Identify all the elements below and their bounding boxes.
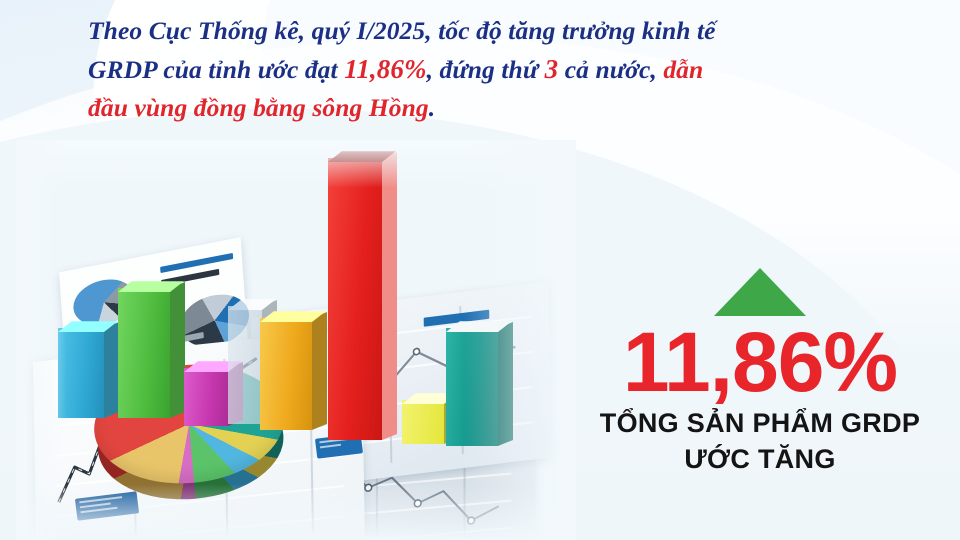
bar-3-magenta xyxy=(184,368,228,426)
headline-line-3: đầu vùng đồng bằng sông Hồng. xyxy=(88,89,888,127)
headline-line1-text: Theo Cục Thống kê, quý I/2025, tốc độ tă… xyxy=(88,16,716,45)
bar-4-amber xyxy=(260,318,312,430)
headline-line2-emphasis: dẫn xyxy=(663,55,703,84)
headline-line3-red: đầu vùng đồng bằng sông Hồng xyxy=(88,93,429,122)
headline-line2-suffix: cả nước, xyxy=(558,55,663,84)
bar-5-red-tallest xyxy=(328,158,382,440)
headline-line2-mid: , đứng thứ xyxy=(427,55,545,84)
headline-line-1: Theo Cục Thống kê, quý I/2025, tốc độ tă… xyxy=(88,12,888,50)
statistic-panel: 11,86% TỔNG SẢN PHẨM GRDP ƯỚC TĂNG xyxy=(560,250,960,540)
bar-2-green xyxy=(118,288,170,418)
bar-chart-3d xyxy=(16,140,576,540)
bar-1-cyan xyxy=(58,328,104,418)
headline-line2-prefix: GRDP của tỉnh ước đạt xyxy=(88,55,344,84)
bar-backdrop-pale xyxy=(228,306,262,424)
business-charts-photo xyxy=(16,140,576,540)
headline-line-2: GRDP của tỉnh ước đạt 11,86%, đứng thứ 3… xyxy=(88,50,888,89)
bar-7-teal xyxy=(446,328,498,446)
headline-text: Theo Cục Thống kê, quý I/2025, tốc độ tă… xyxy=(88,12,888,127)
headline-rank-value: 3 xyxy=(545,54,559,84)
infographic-root: Theo Cục Thống kê, quý I/2025, tốc độ tă… xyxy=(0,0,960,540)
headline-line3-period: . xyxy=(429,93,435,122)
growth-caption-line-1: TỔNG SẢN PHẨM GRDP xyxy=(560,406,960,440)
growth-value: 11,86% xyxy=(560,318,960,406)
bar-6-yellow xyxy=(402,400,444,444)
headline-growth-value: 11,86% xyxy=(344,54,426,84)
triangle-up-icon xyxy=(714,268,806,316)
growth-caption-line-2: ƯỚC TĂNG xyxy=(560,442,960,476)
